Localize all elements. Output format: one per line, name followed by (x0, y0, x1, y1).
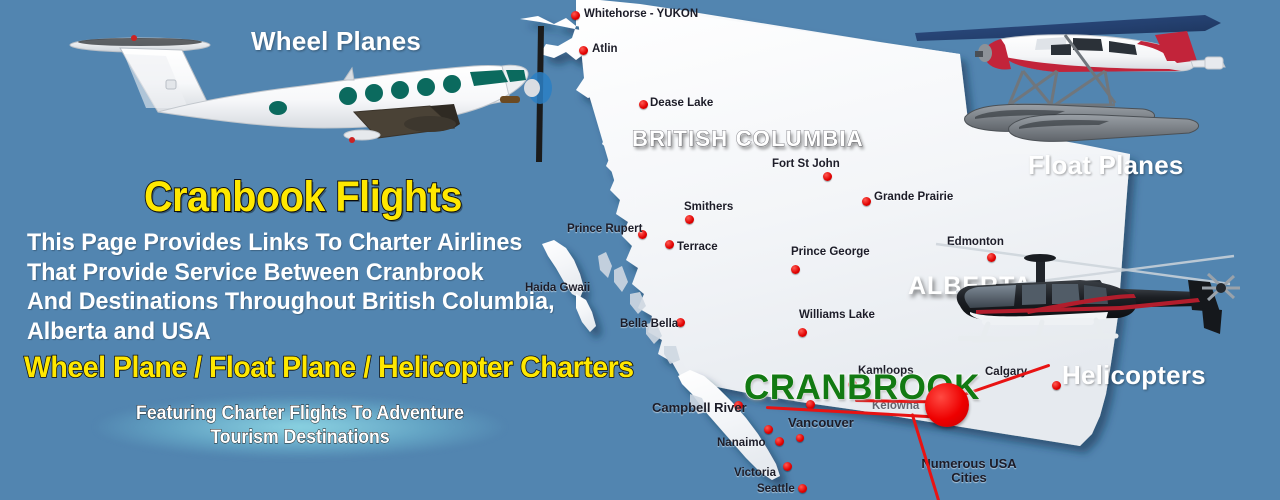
city-label-campbell-river: Campbell River (652, 400, 747, 415)
featuring-line: Tourism Destinations (109, 426, 490, 450)
description-line: Alberta and USA (27, 317, 555, 347)
city-label-victoria: Victoria (734, 467, 776, 479)
city-label-terrace: Terrace (677, 241, 718, 253)
helicopter-illustration (930, 240, 1250, 365)
city-label-atlin: Atlin (592, 43, 618, 55)
antenna (344, 68, 354, 80)
tailplane-top (78, 38, 202, 46)
city-marker-calgary (1052, 381, 1061, 390)
city-label-prince-george: Prince George (791, 246, 870, 258)
pontoon-front (1009, 114, 1199, 141)
city-label-vancouver: Vancouver (788, 415, 854, 430)
city-label-bella-bella: Bella Bella (620, 318, 678, 330)
city-label-nanaimo: Nanaimo (717, 437, 766, 449)
propeller (975, 51, 983, 57)
city-marker-terrace (665, 240, 674, 249)
landing-gear-fairing (344, 130, 380, 140)
city-marker-williams-lake (798, 328, 807, 337)
page-title: Cranbook Flights (144, 176, 462, 219)
city-marker-dease-lake (639, 100, 648, 109)
helicopters-label: Helicopters (1062, 360, 1206, 391)
coast-islands (614, 266, 628, 292)
city-label-seattle: Seattle (757, 483, 795, 495)
city-label-fort-st-john: Fort St John (772, 158, 840, 170)
province-label-british-columbia: BRITISH COLUMBIA (632, 126, 864, 152)
description-line: That Provide Service Between Cranbrook (27, 258, 555, 288)
wheel-planes-label: Wheel Planes (251, 26, 421, 57)
description-line: And Destinations Throughout British Colu… (27, 287, 555, 317)
city-marker-victoria (783, 462, 792, 471)
tail-cone (1205, 57, 1223, 69)
city-label-prince-rupert: Prince Rupert (567, 223, 642, 235)
city-marker-whitehorse (571, 11, 580, 20)
city-label-williams-lake: Williams Lake (799, 309, 875, 321)
city-label-dease-lake: Dease Lake (650, 97, 713, 109)
cockpit-glass (965, 285, 1017, 308)
city-marker-vancouver-alt (796, 434, 804, 442)
city-marker-grande-prairie (862, 197, 871, 206)
city-label-whitehorse: Whitehorse - YUKON (584, 8, 698, 20)
tail-fin-lower (1202, 308, 1222, 334)
float-plane-illustration (905, 5, 1245, 150)
city-marker-seattle (798, 484, 807, 493)
hub-marker-cranbrook (925, 383, 969, 427)
city-label-smithers: Smithers (684, 201, 733, 213)
description-block: This Page Provides Links To Charter Airl… (27, 228, 555, 346)
belly-panel-2 (982, 318, 1094, 325)
city-marker-atlin (579, 46, 588, 55)
city-label-grande-prairie: Grande Prairie (874, 191, 953, 203)
tail-rotor-hub (1216, 283, 1226, 293)
charter-types-line: Wheel Plane / Float Plane / Helicopter C… (24, 352, 634, 384)
city-marker-vancouver (764, 425, 773, 434)
city-marker-prince-george (791, 265, 800, 274)
skid-step (958, 336, 994, 341)
haida-gwaii-south (576, 294, 596, 332)
city-marker-smithers (685, 215, 694, 224)
cabin-door (500, 96, 520, 103)
flights-banner: Whitehorse - YUKON Atlin Dease Lake BRIT… (0, 0, 1280, 500)
vertical-stabilizer (1188, 280, 1220, 312)
description-line: This Page Provides Links To Charter Airl… (27, 228, 555, 258)
rotor-hub (1024, 254, 1056, 262)
float-planes-label: Float Planes (1028, 150, 1184, 181)
fin-detail (166, 80, 176, 89)
featuring-line: Featuring Charter Flights To Adventure (109, 402, 490, 426)
belly-light (349, 137, 355, 143)
engine-nacelle (404, 116, 456, 132)
spinner (524, 79, 540, 97)
city-marker-fort-st-john (823, 172, 832, 181)
featuring-block: Featuring Charter Flights To Adventure T… (109, 402, 490, 450)
coast-islands (598, 252, 612, 278)
city-marker-nanaimo (775, 437, 784, 446)
tail-light (131, 35, 137, 41)
